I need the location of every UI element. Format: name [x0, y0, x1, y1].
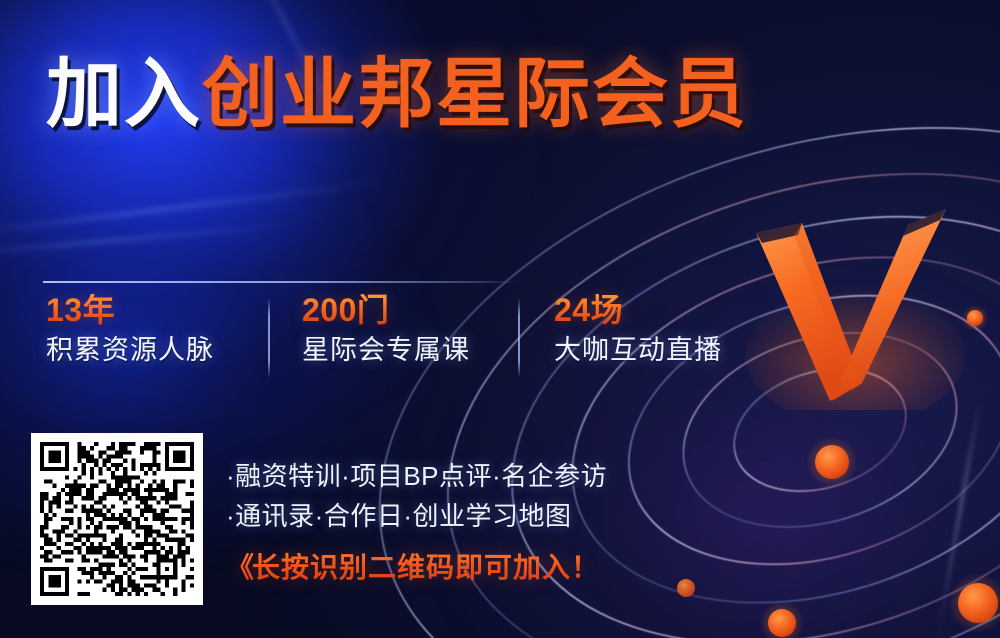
stats-divider-rule [43, 281, 521, 283]
stat-number-2: 24场 [554, 294, 623, 326]
headline-white-part: 加入 [46, 52, 202, 137]
stat-vertical-divider-1 [268, 299, 270, 377]
headline-orange-part: 创业邦星际会员 [202, 52, 748, 137]
stat-number-1: 200门 [302, 294, 389, 326]
v-brand-mark [740, 205, 970, 410]
promo-banner: 加入创业邦星际会员 13年 积累资源人脉 200门 星际会专属课 24场 大咖互… [0, 0, 1000, 638]
stat-item-2: 24场 大咖互动直播 [554, 294, 722, 364]
stat-desc-0: 积累资源人脉 [46, 337, 214, 364]
headline: 加入创业邦星际会员 [46, 57, 748, 133]
stat-item-1: 200门 星际会专属课 [302, 294, 470, 364]
cta-text[interactable]: 《长按识别二维码即可加入！ [226, 546, 600, 586]
stat-vertical-divider-2 [518, 299, 520, 377]
feature-line-1: ·通讯录·合作日·创业学习地图 [226, 496, 607, 536]
stat-desc-2: 大咖互动直播 [554, 337, 722, 364]
cta-label: 长按识别二维码即可加入！ [252, 552, 600, 583]
feature-line-0: ·融资特训·项目BP点评·名企参访 [226, 456, 607, 496]
stat-number-0: 13年 [46, 294, 115, 326]
qr-code-canvas [40, 442, 194, 596]
stat-item-0: 13年 积累资源人脉 [46, 294, 214, 364]
qr-code[interactable] [31, 433, 203, 605]
stat-desc-1: 星际会专属课 [302, 337, 470, 364]
cta-chevron-icon: 《 [226, 552, 252, 583]
feature-list: ·融资特训·项目BP点评·名企参访 ·通讯录·合作日·创业学习地图 [226, 456, 607, 536]
